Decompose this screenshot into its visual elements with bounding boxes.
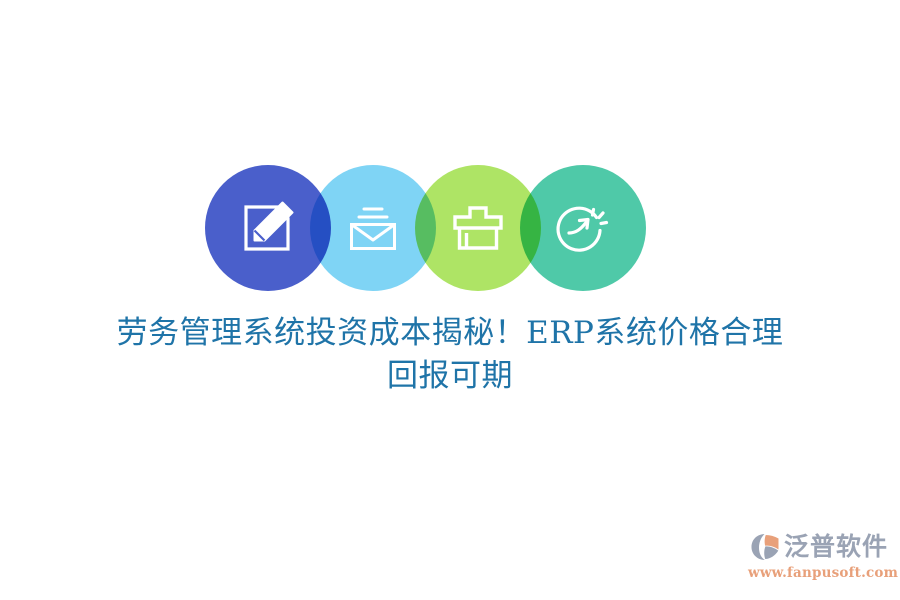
brand-url: www.fanpusoft.com	[748, 565, 888, 582]
logo-row: 泛普软件	[748, 530, 888, 564]
watermark-logo: 泛普软件 www.fanpusoft.com	[748, 530, 888, 588]
banner-canvas: 劳务管理系统投资成本揭秘！ERP系统价格合理 回报可期 泛普软件 www.fan…	[0, 0, 900, 600]
page-title: 劳务管理系统投资成本揭秘！ERP系统价格合理 回报可期	[0, 312, 900, 398]
fanpu-logo-icon	[751, 533, 781, 561]
circle-cluster	[205, 165, 646, 291]
circle-growth	[520, 165, 646, 291]
brand-name: 泛普软件	[784, 533, 888, 561]
